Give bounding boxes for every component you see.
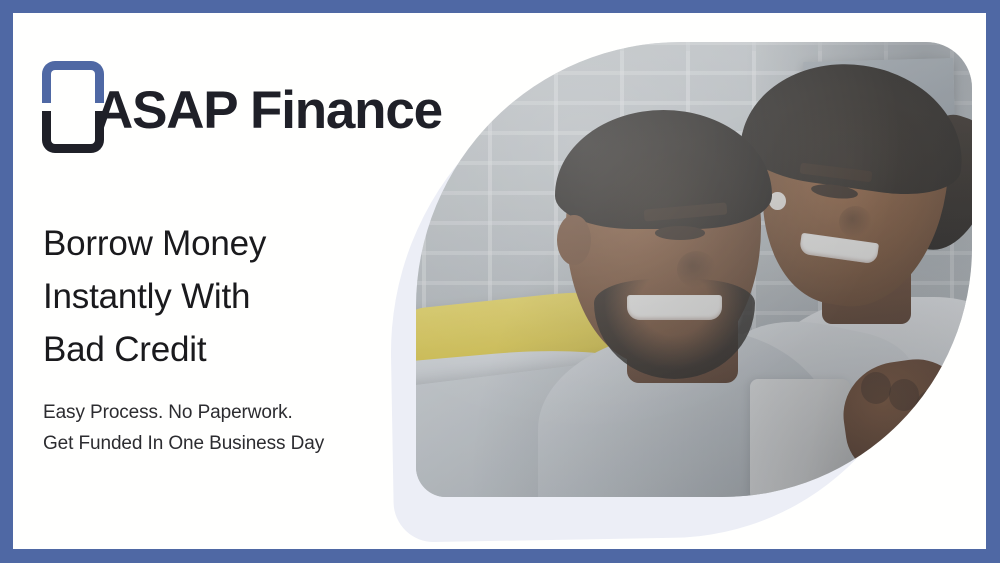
subheadline-line-1: Easy Process. No Paperwork. [43, 397, 324, 428]
headline-line-2: Instantly With [43, 270, 266, 323]
hero-photo [416, 42, 972, 497]
headline-line-3: Bad Credit [43, 323, 266, 376]
content-column: ASAP Finance Borrow Money Instantly With… [42, 13, 442, 549]
man-smile [627, 295, 722, 320]
brand-name: ASAP Finance [95, 84, 442, 137]
subheadline-line-2: Get Funded In One Business Day [43, 428, 324, 459]
knuckle [861, 372, 892, 404]
coffee-mug [750, 379, 850, 497]
page-title: Borrow Money Instantly With Bad Credit [43, 217, 266, 376]
hero-visual [386, 13, 986, 549]
knuckle [916, 390, 947, 422]
hero-photo-image [416, 42, 972, 497]
brand-logo[interactable]: ASAP Finance [42, 54, 442, 154]
man-ear [557, 215, 590, 265]
banner-canvas: ASAP Finance Borrow Money Instantly With… [13, 13, 986, 549]
headline-line-1: Borrow Money [43, 217, 266, 270]
man-eye [655, 226, 705, 240]
subheadline: Easy Process. No Paperwork. Get Funded I… [43, 397, 324, 459]
knuckle [889, 379, 920, 411]
man-nose [677, 251, 716, 287]
banner-frame: ASAP Finance Borrow Money Instantly With… [0, 0, 1000, 563]
woman-nose [839, 206, 872, 238]
